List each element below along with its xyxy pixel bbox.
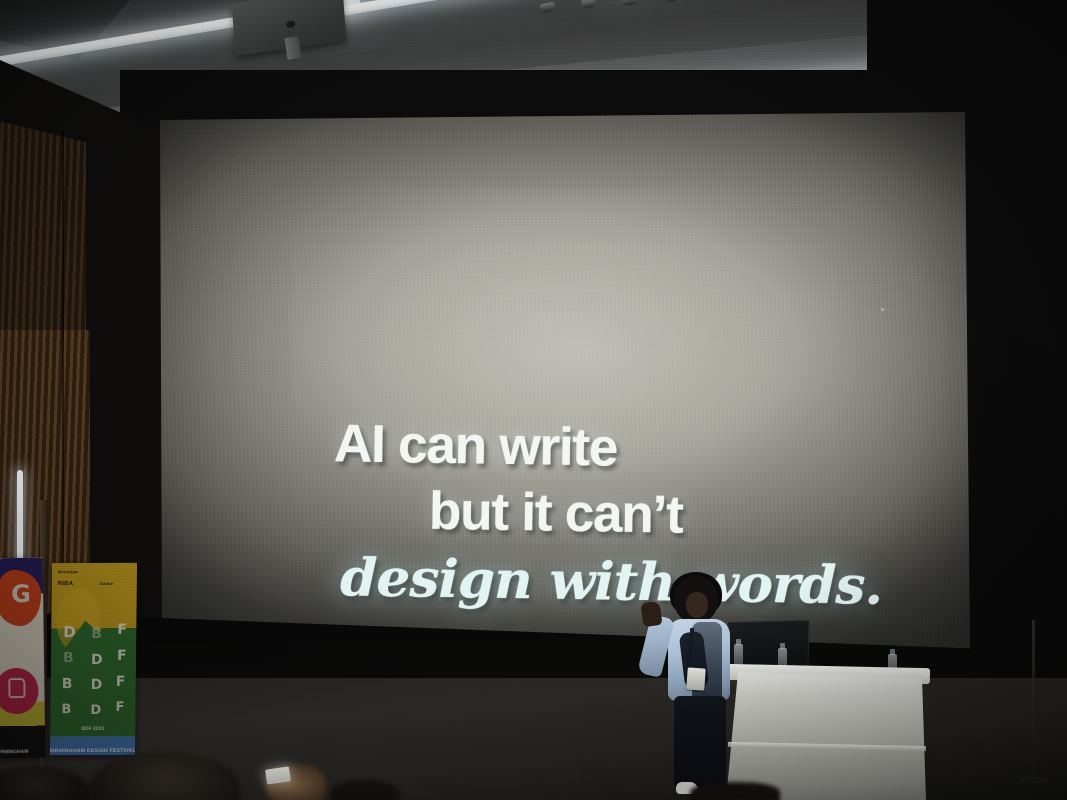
poster-blob-navy-text: DIGIARTS xyxy=(0,640,45,650)
poster-blob-foot-text: BIRMINGHAM xyxy=(0,749,28,755)
poster-glyph: F xyxy=(117,649,127,663)
poster-sponsor-logos: Monotype RIBA Adobe xyxy=(51,563,137,625)
presenter-legs xyxy=(674,696,726,788)
poster-glyph: B xyxy=(63,651,74,665)
slide-line-2: but it can’t xyxy=(325,483,966,546)
audience-head xyxy=(690,782,780,800)
slide-text-block: AI can write but it can’t design with wo… xyxy=(324,417,967,614)
wall-seam xyxy=(62,130,64,630)
poster-glyph: F xyxy=(115,701,124,714)
microphone-stand-base xyxy=(1018,776,1048,783)
sponsor-logo-monotype: Monotype xyxy=(58,569,79,574)
presenter-face xyxy=(686,592,708,618)
poster-glyph: D xyxy=(91,653,103,667)
poster-glyph: D xyxy=(91,678,103,692)
poster-glyph: D xyxy=(63,625,76,640)
poster-design-festival: Monotype RIBA Adobe D B F B D F B D F B … xyxy=(50,563,137,755)
poster-mid-text: BDF 2023 xyxy=(81,726,104,732)
poster-digiarts: G DIGIARTS BIRMINGHAM xyxy=(0,558,45,759)
slide-line-1: AI can write xyxy=(326,417,967,480)
sponsor-logo-adobe: Adobe xyxy=(100,581,114,586)
poster-glyph: B xyxy=(61,703,71,716)
presenter-raised-hand xyxy=(640,601,662,627)
projection-screen: AI can write but it can’t design with wo… xyxy=(160,112,970,657)
microphone-stand xyxy=(1032,620,1035,780)
poster-glyph: D xyxy=(90,704,101,717)
presenter xyxy=(648,576,758,800)
presenter-badge xyxy=(686,667,705,690)
poster-thumbs-up-icon xyxy=(8,678,25,698)
sponsor-logo-riba: RIBA xyxy=(58,581,74,587)
poster-footer-text: BIRMINGHAM DESIGN FESTIVAL xyxy=(50,748,136,754)
conference-photo-scene: AI can write but it can’t design with wo… xyxy=(0,0,1067,800)
poster-glyph: B xyxy=(62,677,73,691)
poster-glyph: B xyxy=(91,627,102,641)
poster-glyph: F xyxy=(116,675,126,689)
projector-mount-arm xyxy=(285,36,302,60)
poster-blob-letter: G xyxy=(11,582,31,606)
poster-glyph: F xyxy=(117,623,127,637)
projector-lens-icon xyxy=(286,20,295,28)
